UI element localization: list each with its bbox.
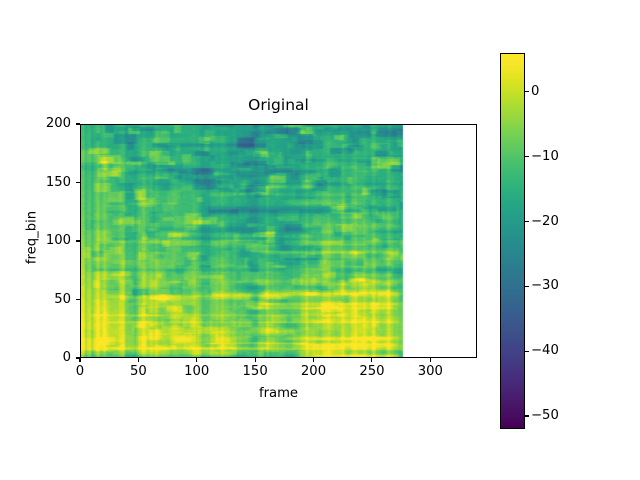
colorbar-tick-mark [525, 156, 529, 157]
y-tick-label: 200 [0, 116, 71, 131]
colorbar-tick-label: −50 [531, 408, 559, 423]
y-tick-mark [76, 123, 80, 124]
x-tick-label: 50 [108, 364, 168, 379]
y-tick-mark [76, 357, 80, 358]
y-axis-label: freq_bin [25, 178, 40, 298]
colorbar-tick-mark [525, 91, 529, 92]
y-tick-label: 0 [0, 350, 71, 365]
spectrogram-axes [80, 124, 477, 358]
x-tick-label: 100 [167, 364, 227, 379]
x-tick-mark [371, 358, 372, 362]
colorbar-gradient [501, 54, 524, 428]
colorbar-tick-mark [525, 221, 529, 222]
y-tick-mark [76, 182, 80, 183]
colorbar-tick-label: −20 [531, 214, 559, 229]
x-axis-label: frame [80, 386, 477, 401]
x-tick-mark [138, 358, 139, 362]
colorbar-tick-mark [525, 286, 529, 287]
colorbar [500, 53, 525, 429]
spectrogram-image [81, 125, 477, 358]
y-tick-mark [76, 240, 80, 241]
x-tick-label: 0 [50, 364, 110, 379]
colorbar-tick-label: 0 [531, 84, 539, 99]
x-tick-label: 150 [225, 364, 285, 379]
x-tick-mark [255, 358, 256, 362]
colorbar-tick-label: −30 [531, 278, 559, 293]
matplotlib-figure: Original 050100150200250300 050100150200… [0, 0, 640, 480]
colorbar-tick-mark [525, 415, 529, 416]
colorbar-tick-mark [525, 351, 529, 352]
colorbar-tick-label: −40 [531, 343, 559, 358]
x-tick-mark [196, 358, 197, 362]
x-tick-label: 250 [342, 364, 402, 379]
x-tick-label: 200 [284, 364, 344, 379]
x-tick-mark [430, 358, 431, 362]
y-tick-mark [76, 299, 80, 300]
colorbar-tick-label: −10 [531, 149, 559, 164]
plot-title: Original [80, 96, 477, 114]
x-tick-mark [313, 358, 314, 362]
x-tick-label: 300 [400, 364, 460, 379]
x-tick-mark [79, 358, 80, 362]
